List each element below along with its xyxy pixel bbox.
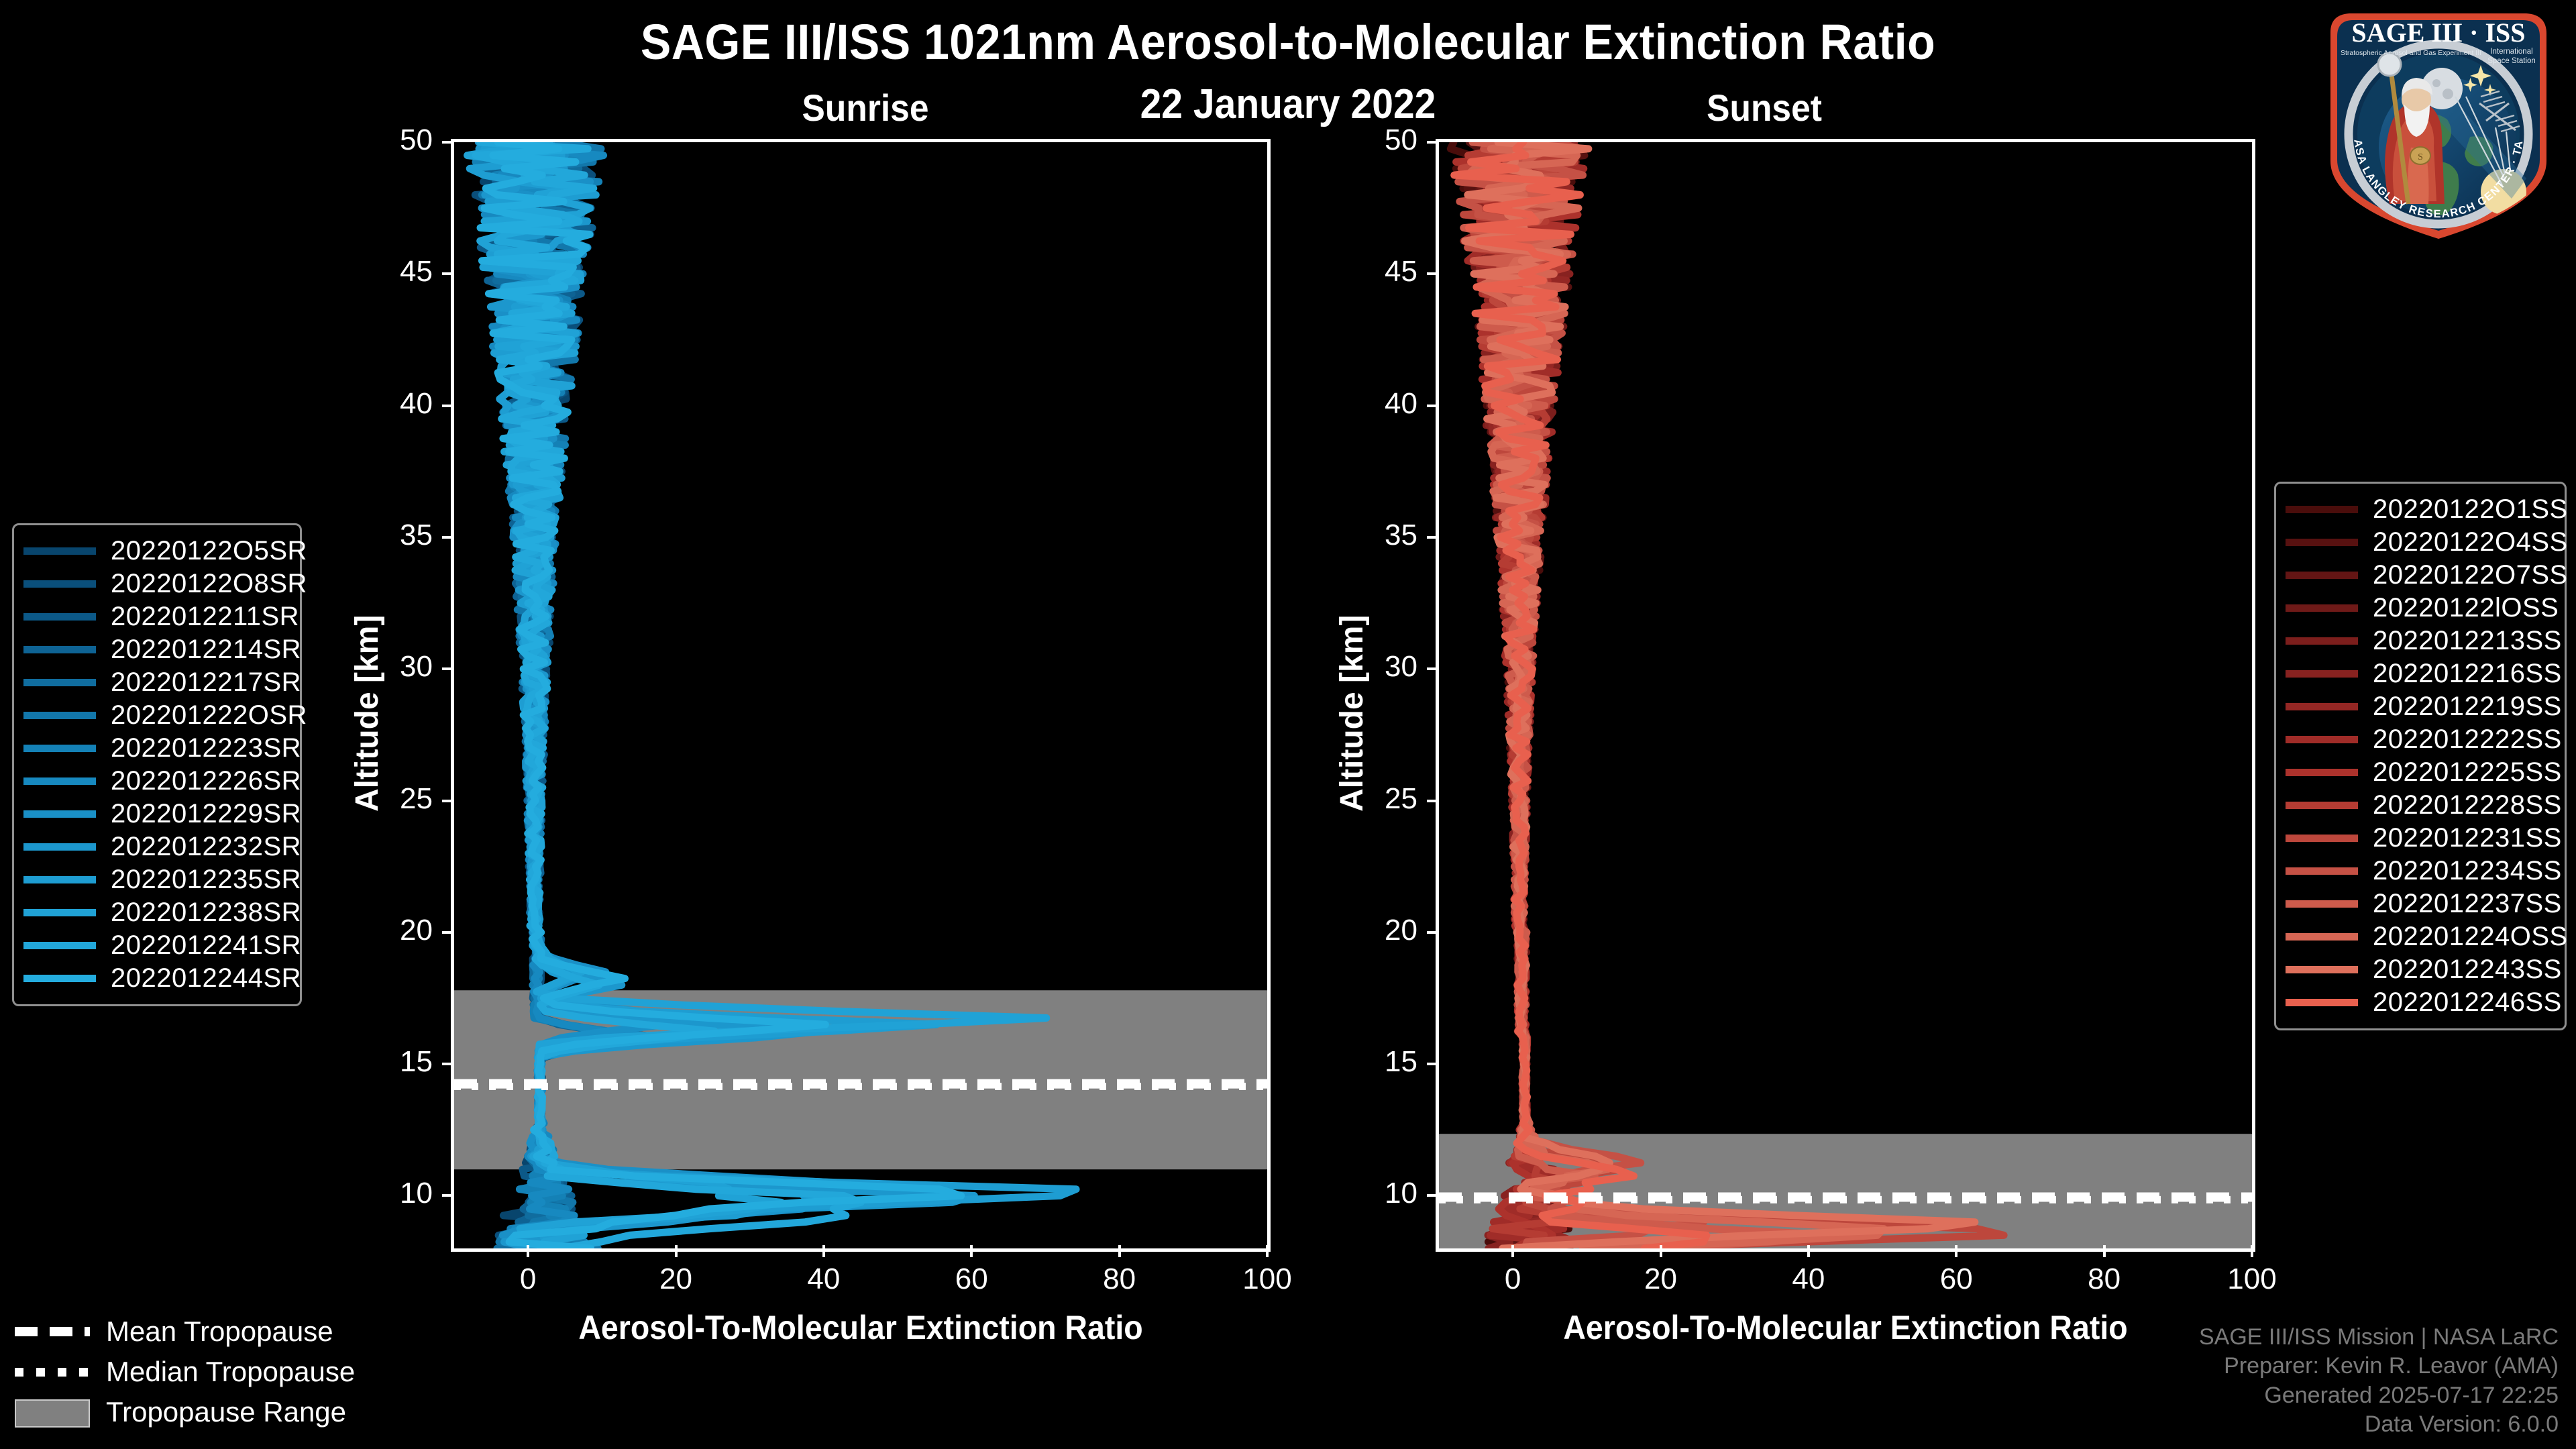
svg-text:S: S <box>2418 152 2423 162</box>
sunrise-legend-item[interactable]: 20220122O8SR <box>23 568 288 600</box>
sunset-legend-color-swatch-icon <box>2286 933 2358 941</box>
sunset-x-tickmark <box>2103 1245 2106 1257</box>
sunrise-legend-label: 202201222OSR <box>111 700 307 731</box>
legend-item-tropopause-range: Tropopause Range <box>15 1392 355 1432</box>
sunrise-legend-label: 20220122O8SR <box>111 569 307 599</box>
sunset-legend-color-swatch-icon <box>2286 572 2358 579</box>
sunrise-y-tick-label: 15 <box>320 1045 433 1079</box>
sunrise-legend-color-swatch-icon <box>23 942 96 949</box>
sunset-legend-label: 2022012213SS <box>2373 626 2562 656</box>
sunrise-legend[interactable]: 20220122O5SR20220122O8SR2022012211SR2022… <box>12 523 302 1006</box>
sunset-y-tick-label: 20 <box>1305 914 1417 947</box>
sunrise-legend-label: 2022012238SR <box>111 898 301 928</box>
sunset-y-tick-label: 45 <box>1305 255 1417 288</box>
sunset-y-tick-label: 15 <box>1305 1045 1417 1079</box>
tropopause-legend: Mean Tropopause Median Tropopause Tropop… <box>15 1311 355 1432</box>
sunrise-legend-item[interactable]: 2022012235SR <box>23 863 288 896</box>
sunset-x-tick-label: 40 <box>1748 1263 1869 1296</box>
sunset-legend-label: 202201224OSS <box>2373 922 2568 952</box>
sunrise-legend-label: 20220122O5SR <box>111 536 307 566</box>
sunset-legend-color-swatch-icon <box>2286 539 2358 546</box>
sunset-legend-item[interactable]: 2022012234SS <box>2286 855 2553 888</box>
sunrise-y-tickmark <box>442 405 454 407</box>
sunrise-legend-label: 2022012244SR <box>111 963 301 994</box>
sunrise-legend-item[interactable]: 2022012214SR <box>23 633 288 666</box>
sunset-y-tickmark <box>1427 1194 1439 1197</box>
sunrise-legend-color-swatch-icon <box>23 975 96 982</box>
sunrise-legend-item[interactable]: 2022012217SR <box>23 666 288 699</box>
sunset-legend-color-swatch-icon <box>2286 900 2358 908</box>
sunrise-y-tick-label: 45 <box>320 255 433 288</box>
sunrise-x-tick-label: 100 <box>1207 1263 1328 1296</box>
sunrise-y-tickmark <box>442 1194 454 1197</box>
sunset-y-tickmark <box>1427 667 1439 670</box>
sunset-legend-color-swatch-icon <box>2286 835 2358 842</box>
sunset-legend-label: 2022012219SS <box>2373 692 2562 722</box>
sunset-y-tick-label: 30 <box>1305 650 1417 684</box>
sunset-x-tickmark <box>1511 1245 1514 1257</box>
patch-subtitle-left: Stratospheric Aerosol and Gas Experiment… <box>2341 49 2481 57</box>
credits-block: SAGE III/ISS Mission | NASA LaRC Prepare… <box>2199 1323 2559 1440</box>
sunrise-x-tick-label: 20 <box>616 1263 737 1296</box>
sunset-x-tick-label: 60 <box>1896 1263 2017 1296</box>
sunrise-legend-color-swatch-icon <box>23 712 96 719</box>
credit-line-version: Data Version: 6.0.0 <box>2199 1410 2559 1440</box>
sunset-y-tickmark <box>1427 1063 1439 1065</box>
sunrise-legend-item[interactable]: 2022012226SR <box>23 765 288 798</box>
sunrise-legend-item[interactable]: 202201222OSR <box>23 699 288 732</box>
sunrise-legend-item[interactable]: 2022012238SR <box>23 896 288 929</box>
median-tropopause-label: Median Tropopause <box>106 1356 355 1388</box>
sunset-legend-item[interactable]: 2022012216SS <box>2286 657 2553 690</box>
sunset-y-tickmark <box>1427 272 1439 275</box>
sunset-panel-label: Sunset <box>1635 86 1894 129</box>
sunset-legend-color-swatch-icon <box>2286 506 2358 513</box>
sunset-legend-label: 20220122O1SS <box>2373 494 2568 525</box>
sunrise-y-tickmark <box>442 1063 454 1065</box>
credit-line-preparer: Preparer: Kevin R. Leavor (AMA) <box>2199 1352 2559 1381</box>
sunrise-x-tick-label: 60 <box>911 1263 1032 1296</box>
sunset-legend-color-swatch-icon <box>2286 736 2358 743</box>
sunset-legend-color-swatch-icon <box>2286 637 2358 645</box>
sunset-x-tick-label: 0 <box>1452 1263 1573 1296</box>
mean-tropopause-label: Mean Tropopause <box>106 1316 333 1348</box>
sunset-x-tickmark <box>1660 1245 1662 1257</box>
sunset-legend-label: 2022012228SS <box>2373 790 2562 820</box>
sunrise-y-tick-label: 30 <box>320 650 433 684</box>
sunrise-legend-label: 2022012235SR <box>111 865 301 895</box>
sunrise-legend-item[interactable]: 20220122O5SR <box>23 535 288 568</box>
sunrise-legend-label: 2022012214SR <box>111 635 301 665</box>
sunset-y-tickmark <box>1427 536 1439 539</box>
sunrise-legend-item[interactable]: 2022012244SR <box>23 962 288 995</box>
sunset-y-tickmark <box>1427 931 1439 934</box>
sunset-legend-color-swatch-icon <box>2286 703 2358 710</box>
sunset-y-tick-label: 50 <box>1305 123 1417 157</box>
sunrise-x-tick-label: 0 <box>468 1263 588 1296</box>
sunset-legend-item[interactable]: 2022012231SS <box>2286 822 2553 855</box>
sunset-legend-label: 20220122O7SS <box>2373 560 2568 590</box>
sunrise-panel <box>451 139 1271 1252</box>
sunset-legend-item[interactable]: 2022012246SS <box>2286 986 2553 1019</box>
sunset-x-axis-label: Aerosol-To-Molecular Extinction Ratio <box>1464 1308 2226 1347</box>
page-title: SAGE III/ISS 1021nm Aerosol-to-Molecular… <box>103 13 2473 70</box>
sunrise-legend-color-swatch-icon <box>23 580 96 588</box>
sunset-legend-color-swatch-icon <box>2286 802 2358 809</box>
sunset-legend[interactable]: 20220122O1SS20220122O4SS20220122O7SS2022… <box>2274 482 2567 1030</box>
sunrise-y-tick-label: 35 <box>320 519 433 552</box>
legend-item-mean-tropopause: Mean Tropopause <box>15 1311 355 1352</box>
sunset-legend-item[interactable]: 2022012219SS <box>2286 690 2553 723</box>
sage-iii-iss-mission-patch-logo: S SAGE III · ISS Stratospheric Aerosol a… <box>2310 3 2565 244</box>
sunrise-legend-color-swatch-icon <box>23 777 96 785</box>
sunrise-legend-color-swatch-icon <box>23 679 96 686</box>
sunrise-legend-color-swatch-icon <box>23 613 96 621</box>
sunset-plot-frame <box>1436 139 2255 1252</box>
sunrise-x-tick-label: 80 <box>1059 1263 1180 1296</box>
patch-title: SAGE III · ISS <box>2351 17 2525 48</box>
tropopause-range-swatch-icon <box>15 1403 90 1421</box>
sunrise-x-tickmark <box>1118 1245 1121 1257</box>
sunrise-legend-item[interactable]: 2022012229SR <box>23 798 288 830</box>
sunrise-panel-label: Sunrise <box>736 86 995 129</box>
sunrise-legend-color-swatch-icon <box>23 876 96 883</box>
legend-item-median-tropopause: Median Tropopause <box>15 1352 355 1392</box>
sunset-x-tick-label: 20 <box>1601 1263 1721 1296</box>
sunrise-y-tickmark <box>442 667 454 670</box>
sunrise-x-tick-label: 40 <box>763 1263 884 1296</box>
sunrise-legend-label: 2022012211SR <box>111 602 299 632</box>
sunrise-x-axis-label: Aerosol-To-Molecular Extinction Ratio <box>480 1308 1242 1347</box>
sunset-legend-item[interactable]: 20220122O1SS <box>2286 493 2553 526</box>
sunset-y-tick-label: 10 <box>1305 1177 1417 1210</box>
sunset-legend-label: 20220122lOSS <box>2373 593 2559 623</box>
sunset-x-tick-label: 100 <box>2192 1263 2312 1296</box>
sunset-legend-color-swatch-icon <box>2286 604 2358 612</box>
sunset-panel <box>1436 139 2255 1252</box>
sunrise-y-tick-label: 10 <box>320 1177 433 1210</box>
sunrise-legend-color-swatch-icon <box>23 547 96 555</box>
sunrise-y-tickmark <box>442 931 454 934</box>
sunrise-legend-color-swatch-icon <box>23 745 96 752</box>
sunrise-y-tickmark <box>442 272 454 275</box>
tropopause-range-label: Tropopause Range <box>106 1396 346 1428</box>
sunset-legend-label: 2022012237SS <box>2373 889 2562 919</box>
sunset-y-tick-label: 25 <box>1305 782 1417 816</box>
sunrise-legend-label: 2022012232SR <box>111 832 301 862</box>
sunrise-legend-label: 2022012229SR <box>111 799 301 829</box>
sunrise-plot-frame <box>451 139 1271 1252</box>
sunrise-legend-color-swatch-icon <box>23 810 96 818</box>
sunset-profile-plot <box>1439 142 2252 1248</box>
sunset-legend-label: 2022012246SS <box>2373 987 2562 1018</box>
sunset-y-tickmark <box>1427 800 1439 802</box>
date-subtitle: 22 January 2022 <box>103 80 2473 128</box>
figure-canvas: SAGE III/ISS 1021nm Aerosol-to-Molecular… <box>0 0 2576 1449</box>
sunset-y-tickmark <box>1427 141 1439 144</box>
sunrise-legend-label: 2022012226SR <box>111 766 301 796</box>
sunset-legend-label: 2022012216SS <box>2373 659 2562 689</box>
credit-line-mission: SAGE III/ISS Mission | NASA LaRC <box>2199 1323 2559 1352</box>
sunset-legend-label: 2022012234SS <box>2373 856 2562 886</box>
sunrise-y-tick-label: 50 <box>320 123 433 157</box>
sunset-legend-color-swatch-icon <box>2286 966 2358 973</box>
sunset-x-tickmark <box>1955 1245 1957 1257</box>
sunset-legend-color-swatch-icon <box>2286 999 2358 1006</box>
sunrise-legend-label: 2022012241SR <box>111 930 301 961</box>
sunset-legend-label: 2022012225SS <box>2373 757 2562 788</box>
sunset-x-tick-label: 80 <box>2044 1263 2165 1296</box>
sunrise-y-tickmark <box>442 800 454 802</box>
sunset-legend-label: 2022012231SS <box>2373 823 2562 853</box>
sunset-legend-item[interactable]: 202201224OSS <box>2286 920 2553 953</box>
patch-subtitle-right-2: Space Station <box>2487 57 2536 65</box>
sunset-legend-label: 2022012243SS <box>2373 955 2562 985</box>
sunset-y-tick-label: 40 <box>1305 387 1417 421</box>
sunset-legend-item[interactable]: 2022012228SS <box>2286 789 2553 822</box>
sunrise-x-tickmark <box>527 1245 529 1257</box>
sunrise-legend-item[interactable]: 2022012211SR <box>23 600 288 633</box>
credit-line-generated: Generated 2025-07-17 22:25 <box>2199 1381 2559 1411</box>
sunset-legend-item[interactable]: 20220122O7SS <box>2286 559 2553 592</box>
sunrise-legend-color-swatch-icon <box>23 909 96 916</box>
sunrise-profile-plot <box>454 142 1267 1248</box>
sunrise-y-tick-label: 20 <box>320 914 433 947</box>
sunrise-x-tickmark <box>822 1245 825 1257</box>
sunrise-x-tickmark <box>675 1245 678 1257</box>
sunset-legend-item[interactable]: 20220122O4SS <box>2286 526 2553 559</box>
sunset-legend-item[interactable]: 2022012237SS <box>2286 888 2553 920</box>
sunrise-legend-item[interactable]: 2022012232SR <box>23 830 288 863</box>
sunset-legend-color-swatch-icon <box>2286 867 2358 875</box>
sunrise-legend-label: 2022012223SR <box>111 733 301 763</box>
sunset-x-tickmark <box>2251 1245 2253 1257</box>
sunrise-y-tick-label: 40 <box>320 387 433 421</box>
sunset-y-tick-label: 35 <box>1305 519 1417 552</box>
sunrise-legend-item[interactable]: 2022012241SR <box>23 929 288 962</box>
sunrise-x-tickmark <box>970 1245 973 1257</box>
sunrise-legend-color-swatch-icon <box>23 646 96 653</box>
patch-subtitle-right-1: International <box>2490 48 2532 56</box>
sunset-legend-label: 2022012222SS <box>2373 724 2562 755</box>
sunset-legend-item[interactable]: 20220122lOSS <box>2286 592 2553 625</box>
sunset-legend-label: 20220122O4SS <box>2373 527 2568 557</box>
sunset-legend-item[interactable]: 2022012225SS <box>2286 756 2553 789</box>
sunset-legend-item[interactable]: 2022012213SS <box>2286 625 2553 657</box>
sunset-x-tickmark <box>1807 1245 1810 1257</box>
sunset-legend-item[interactable]: 2022012222SS <box>2286 723 2553 756</box>
sunset-legend-color-swatch-icon <box>2286 670 2358 678</box>
sunrise-legend-item[interactable]: 2022012223SR <box>23 732 288 765</box>
sunset-y-tickmark <box>1427 405 1439 407</box>
sunrise-y-tickmark <box>442 536 454 539</box>
sunrise-legend-color-swatch-icon <box>23 843 96 851</box>
sunrise-x-tickmark <box>1266 1245 1269 1257</box>
sunrise-y-tick-label: 25 <box>320 782 433 816</box>
sunset-legend-item[interactable]: 2022012243SS <box>2286 953 2553 986</box>
sunrise-y-tickmark <box>442 141 454 144</box>
sunrise-legend-label: 2022012217SR <box>111 667 301 698</box>
sunset-legend-color-swatch-icon <box>2286 769 2358 776</box>
mean-tropopause-dash-icon <box>15 1323 90 1340</box>
median-tropopause-dot-icon <box>15 1363 90 1381</box>
